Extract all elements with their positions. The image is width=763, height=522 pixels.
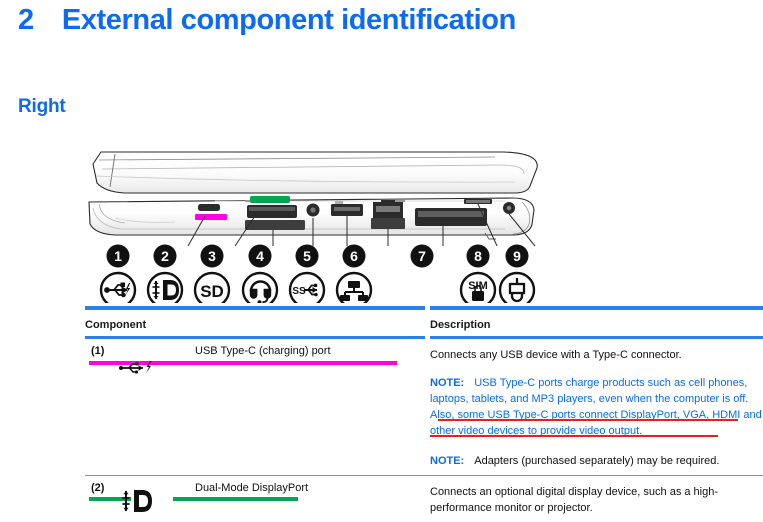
description-cell: Connects an optional digital display dev… <box>425 476 763 522</box>
table-top-rule <box>85 306 763 310</box>
callout-2: 2 <box>154 245 177 268</box>
svg-text:SS: SS <box>292 286 306 297</box>
description-cell: Connects any USB device with a Type-C co… <box>425 339 763 475</box>
usb-charging-glyph <box>105 283 131 297</box>
note-keyword: NOTE: <box>430 455 464 467</box>
headset-glyph <box>251 282 270 304</box>
svg-text:2: 2 <box>161 248 169 264</box>
callout-3: 3 <box>201 245 224 268</box>
svg-text:6: 6 <box>350 248 358 264</box>
section-heading: Right <box>18 96 66 118</box>
chapter-title: External component identification <box>62 4 516 37</box>
slot-sd-card <box>245 220 305 230</box>
component-name: USB Type-C (charging) port <box>195 345 331 357</box>
highlight-underline-green <box>173 497 298 501</box>
highlight-usb-type-c <box>195 214 227 220</box>
svg-text:1: 1 <box>114 248 122 264</box>
note-red-underline <box>430 435 718 437</box>
chapter-number: 2 <box>18 4 34 37</box>
description-text: Connects an optional digital display dev… <box>430 484 750 516</box>
note-block: NOTE:Adapters (purchased separately) may… <box>430 453 763 469</box>
component-index: (2) <box>91 482 104 494</box>
note-red-underline <box>438 419 738 421</box>
table-row: (1) USB Type-C (charging) port Conne <box>85 339 763 475</box>
note-block: NOTE:USB Type-C ports charge products su… <box>430 375 763 439</box>
svg-text:9: 9 <box>513 248 521 264</box>
component-cell: (1) USB Type-C (charging) port <box>85 339 425 475</box>
callout-9: 9 <box>506 245 529 268</box>
note-text: Adapters (purchased separately) may be r… <box>474 455 719 467</box>
svg-text:5: 5 <box>303 248 311 264</box>
component-table: Component Description (1) USB Type-C (ch… <box>85 306 763 522</box>
component-cell: (2) Dual-Mode DisplayPort <box>85 476 425 522</box>
dual-mode-displayport-icon <box>119 488 159 519</box>
callout-4: 4 <box>249 245 272 268</box>
callout-bullets: 1 2 3 4 5 6 7 8 9 <box>107 245 529 268</box>
component-name: Dual-Mode DisplayPort <box>195 482 308 494</box>
sd-card-glyph: SD <box>200 282 224 301</box>
network-glyph <box>340 281 368 301</box>
component-index: (1) <box>91 345 104 357</box>
note-text: USB Type-C ports charge products such as… <box>430 377 762 437</box>
header-component: Component <box>85 319 146 331</box>
callout-1: 1 <box>107 245 130 268</box>
svg-text:7: 7 <box>418 248 426 264</box>
port-usb-type-c <box>198 204 220 211</box>
sim-card-glyph: SIM <box>468 280 488 301</box>
callout-8: 8 <box>467 245 490 268</box>
usb-type-c-charging-icon <box>117 359 161 380</box>
callout-6: 6 <box>343 245 366 268</box>
power-glyph <box>510 278 524 301</box>
note-keyword: NOTE: <box>430 377 464 389</box>
description-text: Connects any USB device with a Type-C co… <box>430 347 763 363</box>
table-row: (2) Dual-Mode DisplayPort Connects an op… <box>85 476 763 522</box>
table-header-row: Component Description <box>85 310 763 336</box>
highlight-displayport <box>250 196 290 203</box>
usb-superspeed-glyph: SS <box>292 284 317 297</box>
displayport-glyph <box>153 280 180 300</box>
header-description: Description <box>430 319 491 331</box>
power-connector-icon <box>500 273 534 303</box>
svg-text:3: 3 <box>208 248 216 264</box>
svg-text:8: 8 <box>474 248 482 264</box>
callout-7: 7 <box>411 245 434 268</box>
callout-5: 5 <box>296 245 319 268</box>
headset-jack-icon <box>243 273 277 303</box>
svg-text:4: 4 <box>256 248 264 264</box>
laptop-right-side-illustration: 1 2 3 4 5 6 7 8 9 S <box>85 138 645 303</box>
chapter-heading: 2 External component identification <box>18 4 516 37</box>
